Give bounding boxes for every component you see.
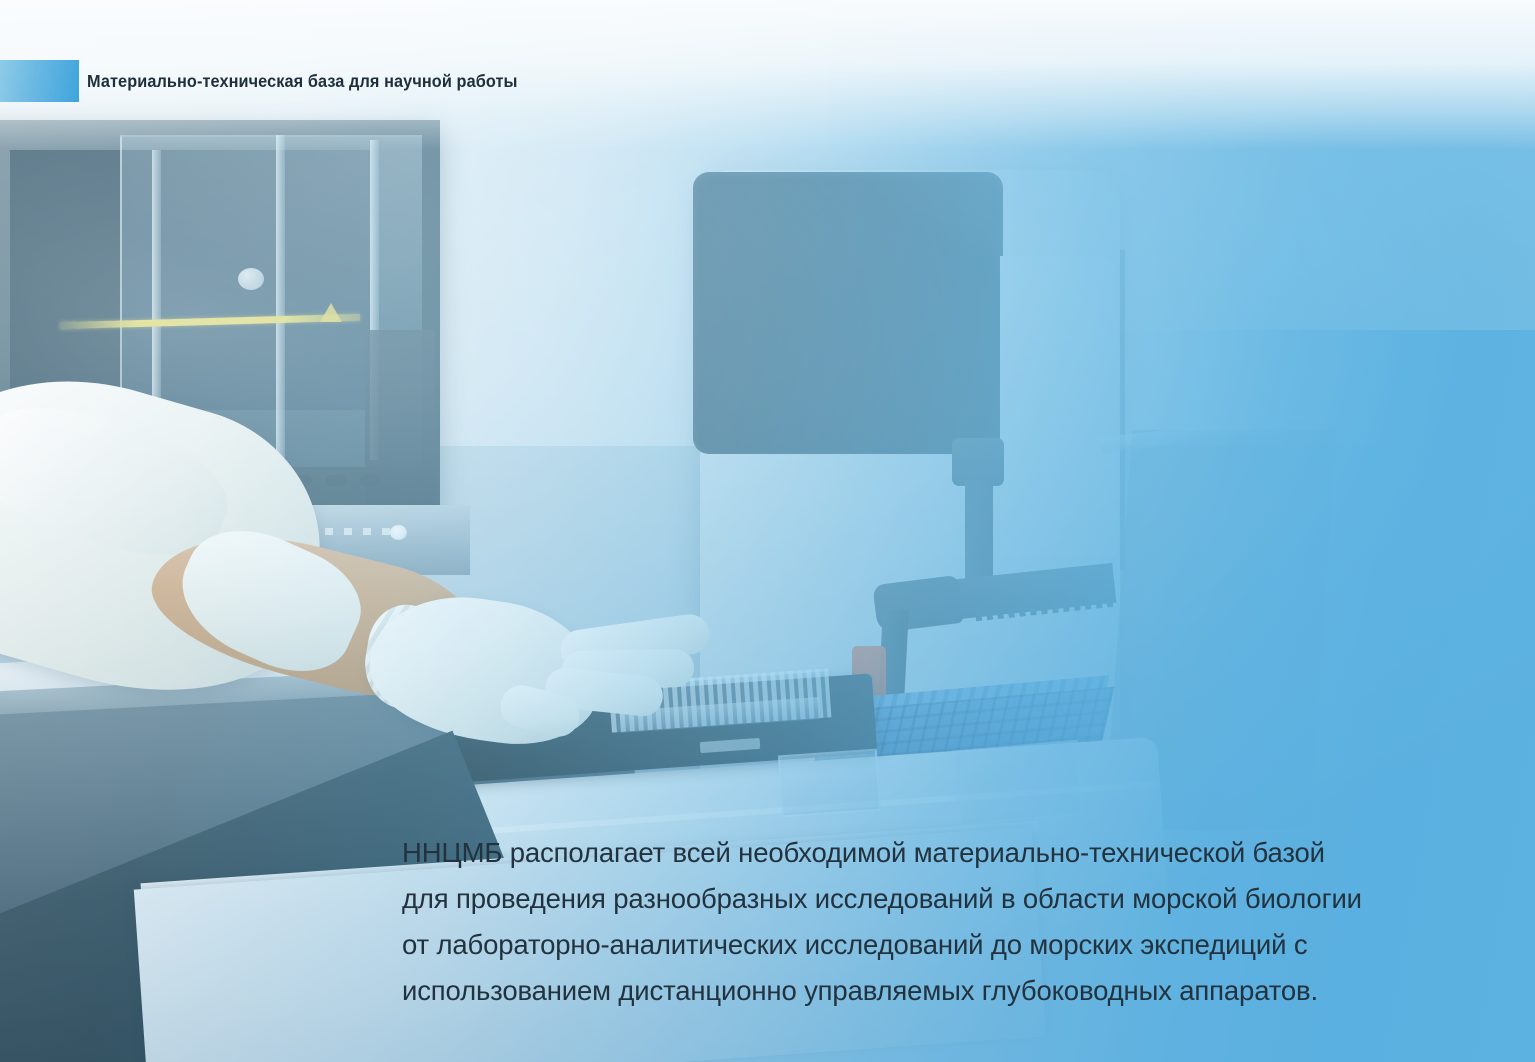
slide-root: Материально-техническая база для научной… [0, 0, 1535, 1062]
body-line-1: ННЦМБ располагает всей необходимой матер… [402, 830, 1472, 876]
header-accent-block [0, 60, 79, 102]
slide-header: Материально-техническая база для научной… [0, 60, 550, 102]
body-line-3: от лабораторно-аналитических исследовани… [402, 922, 1472, 968]
body-line-4: использованием дистанционно управляемых … [402, 968, 1472, 1014]
page-title: Материально-техническая база для научной… [87, 71, 518, 92]
body-line-2: для проведения разнообразных исследовани… [402, 876, 1472, 922]
body-paragraph: ННЦМБ располагает всей необходимой матер… [402, 830, 1472, 1014]
